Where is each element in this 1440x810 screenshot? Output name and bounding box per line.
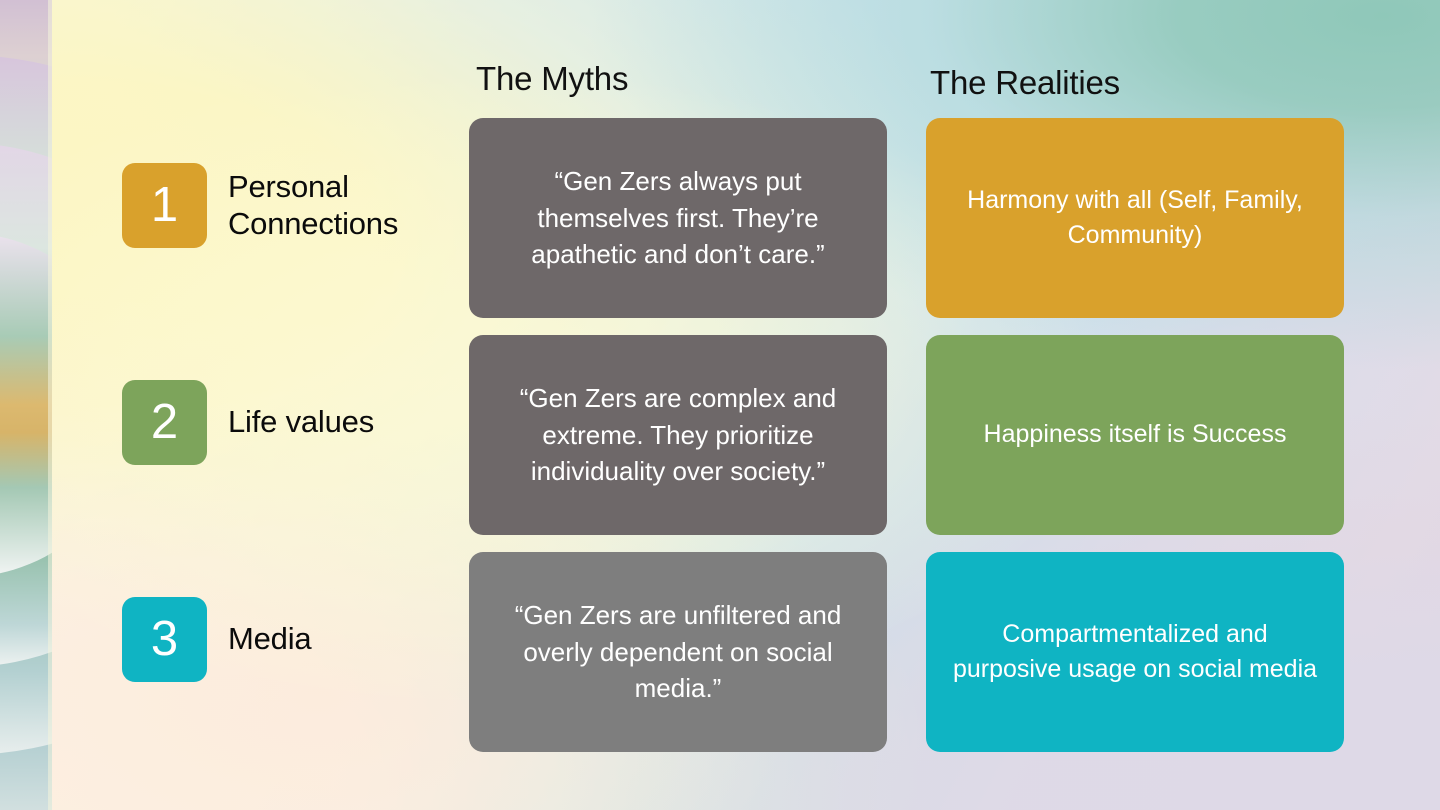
reality-text-3: Compartmentalized and purposive usage on… bbox=[950, 617, 1320, 688]
topic-item-2[interactable]: 2 Life values bbox=[122, 380, 374, 465]
number-badge-3: 3 bbox=[122, 597, 207, 682]
number-badge-1: 1 bbox=[122, 163, 207, 248]
column-header-myths: The Myths bbox=[476, 60, 628, 98]
reality-text-1: Harmony with all (Self, Family, Communit… bbox=[950, 183, 1320, 254]
number-badge-2: 2 bbox=[122, 380, 207, 465]
myth-card-2[interactable]: “Gen Zers are complex and extreme. They … bbox=[469, 335, 887, 535]
slide-canvas: The Myths The Realities 1 Personal Conne… bbox=[0, 0, 1440, 810]
topic-label-1: Personal Connections bbox=[228, 169, 488, 242]
myth-text-2: “Gen Zers are complex and extreme. They … bbox=[493, 380, 863, 491]
topic-label-2: Life values bbox=[228, 404, 374, 441]
content-row: 2 Life values “Gen Zers are complex and … bbox=[0, 335, 1440, 535]
content-row: 3 Media “Gen Zers are unfiltered and ove… bbox=[0, 552, 1440, 752]
reality-card-3[interactable]: Compartmentalized and purposive usage on… bbox=[926, 552, 1344, 752]
topic-item-1[interactable]: 1 Personal Connections bbox=[122, 163, 488, 248]
content-row: 1 Personal Connections “Gen Zers always … bbox=[0, 118, 1440, 318]
topic-item-3[interactable]: 3 Media bbox=[122, 597, 311, 682]
myth-text-3: “Gen Zers are unfiltered and overly depe… bbox=[493, 597, 863, 708]
myth-card-1[interactable]: “Gen Zers always put themselves first. T… bbox=[469, 118, 887, 318]
topic-label-3: Media bbox=[228, 621, 311, 658]
myth-text-1: “Gen Zers always put themselves first. T… bbox=[493, 163, 863, 274]
myth-card-3[interactable]: “Gen Zers are unfiltered and overly depe… bbox=[469, 552, 887, 752]
reality-card-1[interactable]: Harmony with all (Self, Family, Communit… bbox=[926, 118, 1344, 318]
reality-card-2[interactable]: Happiness itself is Success bbox=[926, 335, 1344, 535]
reality-text-2: Happiness itself is Success bbox=[984, 417, 1287, 453]
column-header-realities: The Realities bbox=[930, 64, 1120, 102]
